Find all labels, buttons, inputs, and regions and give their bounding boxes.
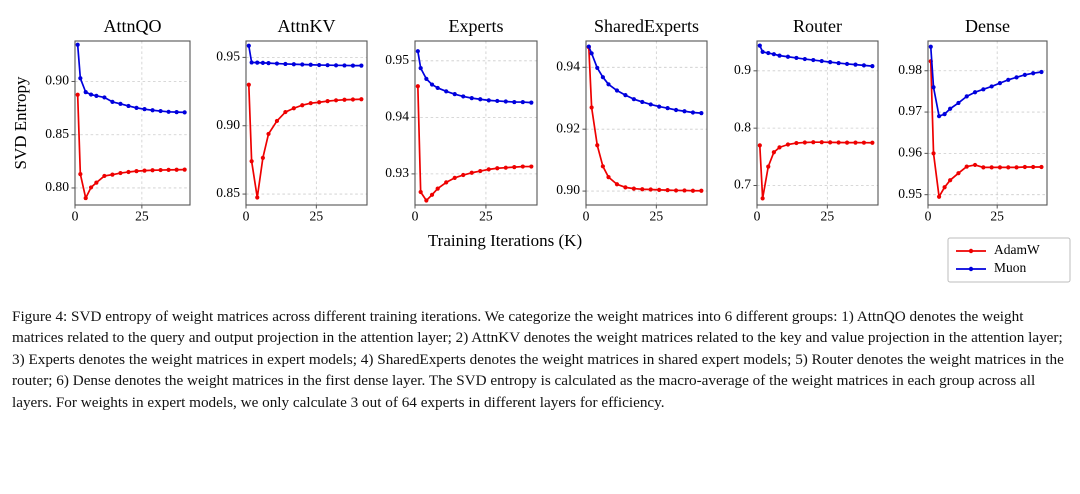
data-point-muon [436, 86, 440, 90]
data-point-muon [255, 60, 259, 64]
data-point-adamw [110, 173, 114, 177]
data-point-adamw [134, 169, 138, 173]
data-point-muon [110, 100, 114, 104]
data-point-muon [359, 64, 363, 68]
data-point-adamw [76, 93, 80, 97]
data-point-adamw [691, 189, 695, 193]
x-axis-tick-label: 25 [479, 209, 493, 224]
data-point-muon [521, 100, 525, 104]
data-point-muon [175, 110, 179, 114]
x-axis-tick-label: 0 [583, 209, 590, 224]
data-point-adamw [300, 103, 304, 107]
data-point-adamw [811, 140, 815, 144]
y-axis-tick-label: 0.97 [898, 103, 922, 118]
data-point-muon [430, 82, 434, 86]
data-point-muon [998, 81, 1002, 85]
data-point-adamw [266, 132, 270, 136]
data-point-muon [862, 63, 866, 67]
y-axis-tick-label: 0.94 [385, 108, 409, 123]
data-point-adamw [937, 195, 941, 199]
series-line-muon [589, 47, 702, 114]
y-axis-tick-label: 0.96 [898, 144, 922, 159]
panel-title: SharedExperts [594, 16, 699, 36]
data-point-muon [956, 101, 960, 105]
data-point-adamw [275, 119, 279, 123]
data-point-muon [84, 90, 88, 94]
data-point-muon [424, 77, 428, 81]
x-axis-tick-label: 25 [821, 209, 835, 224]
panel-dense: Dense0.950.960.970.98025 [898, 16, 1047, 224]
data-point-adamw [326, 99, 330, 103]
data-point-adamw [78, 172, 82, 176]
data-point-adamw [595, 143, 599, 147]
data-point-muon [973, 90, 977, 94]
data-point-adamw [175, 168, 179, 172]
data-point-adamw [948, 178, 952, 182]
data-point-muon [1039, 70, 1043, 74]
x-axis-tick-label: 0 [72, 209, 79, 224]
data-point-adamw [529, 164, 533, 168]
data-point-adamw [247, 83, 251, 87]
data-point-adamw [453, 176, 457, 180]
data-point-adamw [640, 187, 644, 191]
legend-marker-adamw [969, 249, 973, 253]
data-point-muon [943, 112, 947, 116]
data-point-adamw [158, 168, 162, 172]
data-point-muon [266, 61, 270, 65]
x-axis-tick-label: 0 [754, 209, 761, 224]
data-point-muon [300, 62, 304, 66]
data-point-adamw [649, 187, 653, 191]
x-axis-tick-label: 25 [990, 209, 1004, 224]
data-point-muon [487, 98, 491, 102]
data-point-adamw [772, 150, 776, 154]
data-point-muon [772, 52, 776, 56]
data-point-muon [640, 100, 644, 104]
data-point-adamw [615, 182, 619, 186]
panel-frame [75, 41, 190, 205]
data-point-muon [504, 99, 508, 103]
figure-panel-grid: AttnQO0.800.850.90025AttnKV0.850.900.950… [0, 0, 1080, 300]
data-point-adamw [699, 189, 703, 193]
legend-label-adamw: AdamW [994, 242, 1040, 257]
y-axis-tick-label: 0.9 [734, 62, 751, 77]
data-point-muon [931, 85, 935, 89]
data-point-muon [828, 60, 832, 64]
data-point-adamw [261, 156, 265, 160]
data-point-adamw [803, 140, 807, 144]
x-axis-tick-label: 25 [650, 209, 664, 224]
y-axis-tick-label: 0.93 [385, 165, 409, 180]
y-axis-tick-label: 0.95 [216, 49, 240, 64]
data-point-muon [649, 102, 653, 106]
x-axis-tick-label: 25 [135, 209, 149, 224]
panel-attnqo: AttnQO0.800.850.90025 [45, 16, 190, 224]
data-point-adamw [632, 187, 636, 191]
data-point-muon [811, 58, 815, 62]
data-point-adamw [965, 164, 969, 168]
data-point-muon [183, 110, 187, 114]
data-point-muon [461, 94, 465, 98]
y-axis-tick-label: 0.95 [898, 186, 922, 201]
x-axis-tick-label: 0 [243, 209, 250, 224]
data-point-adamw [973, 163, 977, 167]
data-point-muon [623, 93, 627, 97]
data-point-muon [1031, 71, 1035, 75]
panel-title: Experts [449, 16, 504, 36]
data-point-adamw [601, 164, 605, 168]
data-point-muon [495, 99, 499, 103]
data-point-adamw [590, 105, 594, 109]
data-point-adamw [943, 185, 947, 189]
data-point-adamw [862, 141, 866, 145]
data-point-adamw [956, 171, 960, 175]
data-point-adamw [1014, 165, 1018, 169]
data-point-muon [78, 76, 82, 80]
data-point-muon [981, 87, 985, 91]
data-point-muon [948, 107, 952, 111]
data-point-adamw [512, 165, 516, 169]
data-point-muon [758, 43, 762, 47]
data-point-adamw [334, 98, 338, 102]
data-point-adamw [292, 106, 296, 110]
data-point-muon [929, 45, 933, 49]
data-point-adamw [126, 170, 130, 174]
y-axis-tick-label: 0.90 [216, 117, 240, 132]
y-axis-tick-label: 0.98 [898, 62, 922, 77]
data-point-muon [76, 43, 80, 47]
data-point-muon [275, 61, 279, 65]
data-point-muon [444, 89, 448, 93]
series-line-adamw [589, 47, 702, 191]
data-point-muon [118, 102, 122, 106]
data-point-adamw [981, 165, 985, 169]
panel-frame [586, 41, 707, 205]
data-point-adamw [758, 143, 762, 147]
series-line-muon [78, 45, 185, 113]
data-point-muon [334, 63, 338, 67]
data-point-adamw [1023, 165, 1027, 169]
data-point-adamw [309, 101, 313, 105]
data-point-adamw [478, 169, 482, 173]
data-point-muon [1023, 73, 1027, 77]
series-line-muon [931, 47, 1042, 116]
y-axis-tick-label: 0.80 [45, 179, 69, 194]
panel-frame [415, 41, 537, 205]
x-axis-title: Training Iterations (K) [428, 231, 582, 250]
data-point-muon [601, 75, 605, 79]
panel-sharedexperts: SharedExperts0.900.920.94025 [556, 16, 707, 224]
data-point-adamw [317, 100, 321, 104]
data-point-muon [794, 56, 798, 60]
data-point-adamw [786, 142, 790, 146]
x-axis-tick-label: 0 [925, 209, 932, 224]
data-point-adamw [183, 168, 187, 172]
data-point-adamw [828, 140, 832, 144]
panel-attnkv: AttnKV0.850.900.95025 [216, 16, 367, 224]
data-point-adamw [1039, 165, 1043, 169]
data-point-adamw [84, 196, 88, 200]
data-point-adamw [487, 167, 491, 171]
data-point-muon [416, 49, 420, 53]
data-point-muon [590, 51, 594, 55]
data-point-adamw [1031, 165, 1035, 169]
data-point-adamw [250, 159, 254, 163]
data-point-muon [990, 84, 994, 88]
data-point-muon [937, 114, 941, 118]
data-point-muon [167, 110, 171, 114]
data-point-adamw [623, 185, 627, 189]
data-point-muon [761, 50, 765, 54]
data-point-adamw [990, 165, 994, 169]
y-axis-tick-label: 0.85 [216, 185, 240, 200]
data-point-muon [126, 104, 130, 108]
data-point-muon [657, 105, 661, 109]
data-point-adamw [845, 141, 849, 145]
panel-frame [928, 41, 1047, 205]
data-point-adamw [761, 196, 765, 200]
data-point-muon [837, 61, 841, 65]
data-point-muon [419, 66, 423, 70]
y-axis-tick-label: 0.92 [556, 120, 580, 135]
data-point-adamw [666, 188, 670, 192]
data-point-muon [283, 62, 287, 66]
data-point-adamw [167, 168, 171, 172]
series-line-adamw [931, 61, 1042, 197]
data-point-muon [786, 55, 790, 59]
data-point-muon [512, 100, 516, 104]
data-point-adamw [766, 164, 770, 168]
data-point-adamw [102, 174, 106, 178]
data-point-muon [134, 106, 138, 110]
data-point-adamw [794, 141, 798, 145]
panel-router: Router0.70.80.9025 [734, 16, 878, 224]
data-point-muon [674, 108, 678, 112]
data-point-muon [820, 59, 824, 63]
data-point-muon [845, 62, 849, 66]
data-point-adamw [853, 141, 857, 145]
data-point-adamw [998, 165, 1002, 169]
data-point-adamw [820, 140, 824, 144]
data-point-muon [1006, 78, 1010, 82]
legend-marker-muon [969, 267, 973, 271]
data-point-adamw [118, 171, 122, 175]
legend: AdamWMuon [948, 238, 1070, 282]
data-point-adamw [606, 175, 610, 179]
y-axis-tick-label: 0.90 [556, 182, 580, 197]
data-point-muon [309, 63, 313, 67]
data-point-adamw [430, 193, 434, 197]
panel-experts: Experts0.930.940.95025 [385, 16, 537, 224]
data-point-muon [666, 106, 670, 110]
data-point-muon [292, 62, 296, 66]
data-point-adamw [521, 164, 525, 168]
data-point-adamw [359, 97, 363, 101]
y-axis-tick-label: 0.7 [734, 177, 751, 192]
series-line-muon [418, 51, 531, 102]
y-axis-tick-label: 0.95 [385, 52, 409, 67]
data-point-muon [1014, 75, 1018, 79]
data-point-adamw [419, 190, 423, 194]
data-point-muon [453, 92, 457, 96]
data-point-muon [777, 54, 781, 58]
figure-caption: Figure 4: SVD entropy of weight matrices… [12, 306, 1068, 413]
data-point-adamw [777, 145, 781, 149]
data-point-adamw [150, 168, 154, 172]
data-point-muon [632, 97, 636, 101]
data-point-muon [94, 94, 98, 98]
data-point-adamw [94, 181, 98, 185]
data-point-adamw [351, 97, 355, 101]
data-point-muon [615, 88, 619, 92]
data-point-muon [102, 95, 106, 99]
data-point-muon [529, 101, 533, 105]
data-point-muon [965, 94, 969, 98]
data-point-muon [342, 63, 346, 67]
y-axis-tick-label: 0.94 [556, 58, 580, 73]
figure-svg: AttnQO0.800.850.90025AttnKV0.850.900.950… [0, 0, 1080, 300]
data-point-adamw [283, 110, 287, 114]
panel-title: AttnQO [104, 16, 162, 36]
data-point-muon [699, 111, 703, 115]
data-point-muon [606, 82, 610, 86]
data-point-muon [470, 96, 474, 100]
data-point-adamw [444, 180, 448, 184]
data-point-muon [247, 44, 251, 48]
data-point-adamw [416, 84, 420, 88]
data-point-adamw [837, 140, 841, 144]
y-axis-tick-label: 0.85 [45, 126, 69, 141]
y-axis-tick-label: 0.8 [734, 119, 751, 134]
data-point-muon [682, 109, 686, 113]
x-axis-tick-label: 25 [310, 209, 324, 224]
data-point-muon [89, 92, 93, 96]
data-point-adamw [142, 169, 146, 173]
data-point-adamw [657, 188, 661, 192]
data-point-muon [595, 66, 599, 70]
y-axis-tick-label: 0.90 [45, 73, 69, 88]
data-point-muon [250, 60, 254, 64]
data-point-muon [351, 64, 355, 68]
data-point-adamw [931, 151, 935, 155]
data-point-adamw [1006, 165, 1010, 169]
panel-title: Dense [965, 16, 1010, 36]
data-point-adamw [495, 166, 499, 170]
data-point-muon [478, 97, 482, 101]
data-point-adamw [436, 187, 440, 191]
panel-title: AttnKV [278, 16, 336, 36]
series-line-muon [249, 46, 362, 66]
data-point-adamw [870, 141, 874, 145]
y-axis-title: SVD Entropy [11, 76, 30, 170]
data-point-adamw [255, 195, 259, 199]
data-point-adamw [461, 173, 465, 177]
data-point-muon [317, 63, 321, 67]
data-point-adamw [674, 188, 678, 192]
data-point-muon [326, 63, 330, 67]
data-point-muon [870, 64, 874, 68]
x-axis-tick-label: 0 [412, 209, 419, 224]
legend-label-muon: Muon [994, 260, 1027, 275]
data-point-adamw [682, 188, 686, 192]
data-point-muon [150, 108, 154, 112]
data-point-adamw [424, 198, 428, 202]
data-point-muon [261, 61, 265, 65]
data-point-adamw [342, 98, 346, 102]
data-point-adamw [504, 166, 508, 170]
data-point-muon [853, 63, 857, 67]
data-point-muon [142, 107, 146, 111]
panel-title: Router [793, 16, 842, 36]
data-point-adamw [89, 185, 93, 189]
data-point-muon [691, 110, 695, 114]
data-point-muon [158, 109, 162, 113]
data-point-adamw [470, 171, 474, 175]
series-line-adamw [760, 142, 873, 198]
data-point-muon [803, 57, 807, 61]
data-point-muon [766, 51, 770, 55]
data-point-muon [587, 44, 591, 48]
